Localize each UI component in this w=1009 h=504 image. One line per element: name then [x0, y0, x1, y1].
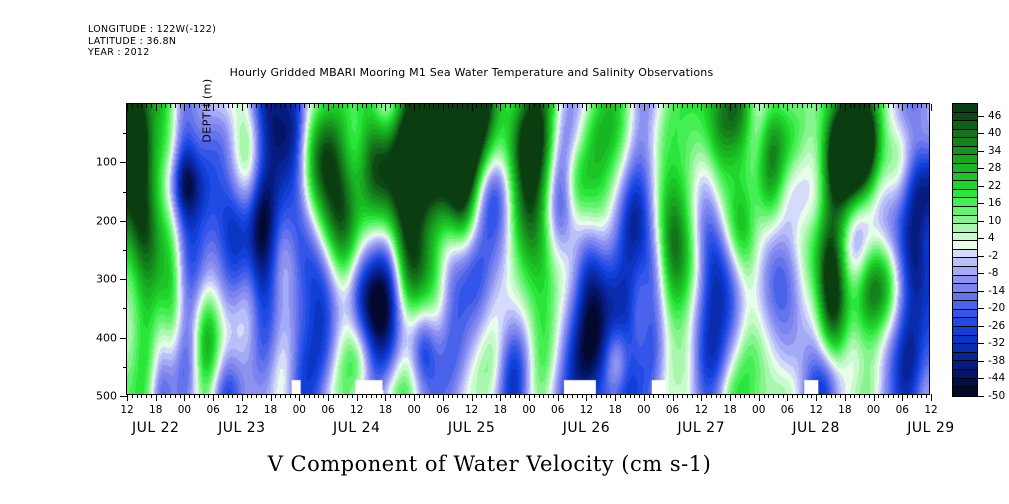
- x-tick-top: [807, 104, 808, 108]
- x-tick-top: [299, 104, 300, 111]
- plot-title-text: Hourly Gridded MBARI Mooring M1 Sea Wate…: [230, 66, 714, 79]
- x-tick-top: [390, 104, 391, 108]
- x-tick-top: [634, 104, 635, 108]
- x-tick: [232, 394, 233, 398]
- x-tick: [893, 394, 894, 398]
- x-tick: [189, 394, 190, 398]
- x-tick-top: [414, 104, 415, 111]
- x-tick-top: [180, 104, 181, 108]
- x-tick-top: [141, 104, 142, 108]
- x-tick: [204, 394, 205, 398]
- x-tick: [223, 394, 224, 398]
- x-hour-label: 00: [407, 404, 420, 416]
- x-tick-top: [921, 104, 922, 108]
- x-tick-top: [213, 104, 214, 111]
- x-tick: [639, 394, 640, 398]
- x-tick-top: [381, 104, 382, 108]
- x-tick: [362, 394, 363, 398]
- x-tick: [194, 394, 195, 398]
- x-tick-top: [720, 104, 721, 108]
- colorbar-label: -26: [988, 320, 1005, 332]
- colorbar-band: [953, 276, 977, 285]
- x-tick-top: [606, 104, 607, 108]
- x-hour-label: 06: [781, 404, 794, 416]
- colorbar-tick: [977, 203, 984, 204]
- x-tick: [563, 394, 564, 398]
- x-tick-top: [443, 104, 444, 111]
- x-tick-top: [208, 104, 209, 108]
- colorbar-label: -44: [988, 372, 1005, 384]
- heatmap-field: [127, 104, 929, 394]
- x-tick-top: [821, 104, 822, 108]
- x-tick-top: [898, 104, 899, 108]
- x-tick: [146, 394, 147, 398]
- x-tick-top: [376, 104, 377, 108]
- x-tick: [826, 394, 827, 398]
- x-tick-top: [261, 104, 262, 108]
- colorbar-band: [953, 121, 977, 130]
- colorbar-band: [953, 284, 977, 293]
- x-hour-label: 00: [752, 404, 765, 416]
- x-tick: [874, 394, 875, 401]
- colorbar-tick: [977, 343, 984, 344]
- x-tick-top: [481, 104, 482, 108]
- x-tick-top: [132, 104, 133, 108]
- x-day-label: JUL 27: [678, 420, 725, 436]
- x-tick: [673, 394, 674, 401]
- x-tick: [582, 394, 583, 398]
- x-tick-top: [783, 104, 784, 108]
- x-tick-top: [553, 104, 554, 108]
- x-tick: [931, 394, 932, 401]
- colorbar-tick: [977, 378, 984, 379]
- x-tick-top: [486, 104, 487, 108]
- x-tick-top: [371, 104, 372, 108]
- x-tick-top: [845, 104, 846, 111]
- colorbar-band: [953, 310, 977, 319]
- colorbar: 464034282216104-2-8-14-20-26-32-38-44-50: [952, 103, 978, 397]
- y-tick-label: 500: [96, 390, 117, 403]
- x-tick: [677, 394, 678, 398]
- y-tick-label: 100: [96, 156, 117, 169]
- x-tick-top: [500, 104, 501, 111]
- colorbar-band: [953, 241, 977, 250]
- x-tick-top: [864, 104, 865, 108]
- colorbar-label: -2: [988, 250, 998, 262]
- x-tick: [476, 394, 477, 398]
- x-tick: [338, 394, 339, 398]
- x-tick-top: [462, 104, 463, 108]
- colorbar-label: -38: [988, 355, 1005, 367]
- x-tick: [443, 394, 444, 401]
- x-tick: [285, 394, 286, 398]
- x-tick-top: [285, 104, 286, 108]
- x-tick-top: [218, 104, 219, 108]
- x-tick: [811, 394, 812, 398]
- x-tick: [357, 394, 358, 401]
- y-tick: [120, 396, 127, 397]
- year-text: YEAR : 2012: [88, 47, 216, 59]
- colorbar-band: [953, 198, 977, 207]
- colorbar-tick: [977, 133, 984, 134]
- x-tick-top: [543, 104, 544, 108]
- x-hour-label: 06: [321, 404, 334, 416]
- page-title: Hourly Gridded MBARI Mooring M1 Sea Wate…: [0, 66, 1009, 79]
- colorbar-band: [953, 258, 977, 267]
- x-hour-label: 18: [494, 404, 507, 416]
- x-tick: [371, 394, 372, 398]
- x-tick-top: [385, 104, 386, 111]
- x-tick-top: [204, 104, 205, 108]
- x-tick: [902, 394, 903, 401]
- x-tick: [697, 394, 698, 398]
- x-tick: [429, 394, 430, 398]
- x-tick: [692, 394, 693, 398]
- x-tick: [261, 394, 262, 398]
- velocity-heatmap-canvas: [127, 104, 929, 394]
- x-tick-top: [878, 104, 879, 108]
- x-tick: [510, 394, 511, 398]
- x-tick-top: [725, 104, 726, 108]
- x-tick-top: [352, 104, 353, 108]
- x-tick-top: [759, 104, 760, 111]
- x-tick: [491, 394, 492, 398]
- x-hour-label: 12: [235, 404, 248, 416]
- x-tick: [156, 394, 157, 401]
- x-tick: [433, 394, 434, 398]
- x-tick: [840, 394, 841, 398]
- x-tick: [151, 394, 152, 398]
- colorbar-band: [953, 318, 977, 327]
- y-tick: [123, 308, 127, 309]
- x-tick: [141, 394, 142, 398]
- x-tick: [701, 394, 702, 401]
- x-tick: [797, 394, 798, 398]
- x-tick-top: [271, 104, 272, 111]
- x-tick-top: [228, 104, 229, 108]
- x-tick: [912, 394, 913, 398]
- x-tick-top: [405, 104, 406, 108]
- y-tick: [123, 367, 127, 368]
- x-tick: [505, 394, 506, 398]
- x-tick: [845, 394, 846, 401]
- x-tick: [347, 394, 348, 398]
- x-tick-top: [931, 104, 932, 111]
- x-tick: [586, 394, 587, 401]
- colorbar-band: [953, 233, 977, 242]
- x-tick-top: [630, 104, 631, 108]
- x-tick-top: [835, 104, 836, 108]
- x-tick: [529, 394, 530, 401]
- x-tick: [175, 394, 176, 398]
- x-tick-top: [792, 104, 793, 108]
- x-tick: [917, 394, 918, 398]
- x-tick-top: [706, 104, 707, 108]
- plot-area: DEPTH (m) 100200300400500 12180006121800…: [126, 103, 930, 395]
- x-tick: [481, 394, 482, 398]
- colorbar-tick: [977, 291, 984, 292]
- x-tick: [165, 394, 166, 398]
- x-tick: [921, 394, 922, 398]
- x-tick-top: [448, 104, 449, 108]
- x-tick-top: [888, 104, 889, 108]
- x-tick-top: [802, 104, 803, 108]
- x-tick-top: [223, 104, 224, 108]
- x-tick-top: [730, 104, 731, 111]
- x-tick-top: [318, 104, 319, 108]
- x-tick-top: [539, 104, 540, 108]
- x-tick: [577, 394, 578, 398]
- x-tick-top: [199, 104, 200, 108]
- x-tick: [314, 394, 315, 398]
- x-tick: [275, 394, 276, 398]
- x-tick-top: [290, 104, 291, 108]
- x-tick-top: [314, 104, 315, 108]
- x-tick: [534, 394, 535, 398]
- colorbar-band: [953, 361, 977, 370]
- x-tick: [888, 394, 889, 398]
- x-tick: [318, 394, 319, 398]
- x-tick-top: [711, 104, 712, 108]
- x-tick: [472, 394, 473, 401]
- x-hour-label: 12: [580, 404, 593, 416]
- x-tick-top: [280, 104, 281, 108]
- x-tick: [228, 394, 229, 398]
- x-tick: [730, 394, 731, 401]
- x-tick: [567, 394, 568, 398]
- x-hour-label: 00: [867, 404, 880, 416]
- x-tick-top: [610, 104, 611, 108]
- x-tick: [419, 394, 420, 398]
- x-tick: [199, 394, 200, 398]
- x-hour-label: 06: [551, 404, 564, 416]
- x-day-label: JUL 28: [792, 420, 839, 436]
- y-tick: [120, 279, 127, 280]
- colorbar-band: [953, 301, 977, 310]
- colorbar-band: [953, 370, 977, 379]
- x-tick-top: [409, 104, 410, 108]
- x-hour-label: 00: [522, 404, 535, 416]
- x-tick-top: [586, 104, 587, 111]
- x-tick: [606, 394, 607, 398]
- x-day-label: JUL 29: [907, 420, 954, 436]
- x-tick: [610, 394, 611, 398]
- colorbar-tick: [977, 361, 984, 362]
- x-tick-top: [558, 104, 559, 111]
- colorbar-label: -8: [988, 267, 998, 279]
- x-hour-label: 12: [924, 404, 937, 416]
- x-hour-label: 12: [465, 404, 478, 416]
- x-tick-top: [874, 104, 875, 111]
- x-hour-label: 18: [379, 404, 392, 416]
- colorbar-band: [953, 190, 977, 199]
- colorbar-tick: [977, 308, 984, 309]
- y-tick: [120, 338, 127, 339]
- x-tick: [926, 394, 927, 398]
- figure-caption: V Component of Water Velocity (cm s-1): [0, 452, 1009, 476]
- x-tick: [649, 394, 650, 398]
- x-tick: [869, 394, 870, 398]
- x-tick: [735, 394, 736, 398]
- colorbar-band: [953, 207, 977, 216]
- x-tick-top: [902, 104, 903, 111]
- x-tick-top: [907, 104, 908, 108]
- colorbar-band: [953, 387, 977, 396]
- station-metadata: LONGITUDE : 122W(-122) LATITUDE : 36.8N …: [88, 24, 216, 59]
- x-tick-top: [649, 104, 650, 108]
- x-tick-top: [625, 104, 626, 108]
- colorbar-tick: [977, 116, 984, 117]
- x-tick-top: [601, 104, 602, 108]
- x-tick: [271, 394, 272, 401]
- x-tick-top: [577, 104, 578, 108]
- x-tick: [342, 394, 343, 398]
- x-tick: [601, 394, 602, 398]
- x-tick: [395, 394, 396, 398]
- x-tick-top: [266, 104, 267, 108]
- x-tick-top: [797, 104, 798, 108]
- x-tick: [496, 394, 497, 398]
- colorbar-band: [953, 293, 977, 302]
- x-tick: [381, 394, 382, 398]
- x-tick-top: [519, 104, 520, 108]
- x-tick-top: [247, 104, 248, 108]
- colorbar-tick: [977, 256, 984, 257]
- x-tick-top: [524, 104, 525, 108]
- colorbar-label: -20: [988, 302, 1005, 314]
- x-tick-top: [429, 104, 430, 108]
- x-tick-top: [740, 104, 741, 108]
- colorbar-tick: [977, 326, 984, 327]
- x-tick: [850, 394, 851, 398]
- colorbar-label: 4: [988, 232, 995, 244]
- x-tick: [835, 394, 836, 398]
- x-hour-label: 12: [120, 404, 133, 416]
- x-tick: [807, 394, 808, 398]
- x-tick-top: [237, 104, 238, 108]
- colorbar-band: [953, 336, 977, 345]
- x-tick: [352, 394, 353, 398]
- x-tick: [634, 394, 635, 398]
- x-day-label: JUL 26: [563, 420, 610, 436]
- colorbar-band: [953, 379, 977, 388]
- x-tick: [161, 394, 162, 398]
- x-tick: [543, 394, 544, 398]
- y-tick-label: 400: [96, 331, 117, 344]
- colorbar-band: [953, 104, 977, 113]
- x-day-label: JUL 25: [448, 420, 495, 436]
- x-tick: [821, 394, 822, 398]
- x-tick: [328, 394, 329, 401]
- x-tick-top: [515, 104, 516, 108]
- x-tick: [237, 394, 238, 398]
- x-tick: [295, 394, 296, 398]
- x-tick-top: [338, 104, 339, 108]
- colorbar-band: [953, 164, 977, 173]
- x-tick-top: [658, 104, 659, 108]
- x-tick: [754, 394, 755, 398]
- x-hour-label: 06: [666, 404, 679, 416]
- x-tick-top: [816, 104, 817, 111]
- colorbar-band: [953, 173, 977, 182]
- longitude-text: LONGITUDE : 122W(-122): [88, 24, 216, 36]
- colorbar-tick: [977, 396, 984, 397]
- x-tick-top: [701, 104, 702, 111]
- x-tick-top: [357, 104, 358, 111]
- x-hour-label: 18: [723, 404, 736, 416]
- x-tick-top: [673, 104, 674, 111]
- x-tick-top: [534, 104, 535, 108]
- x-tick: [725, 394, 726, 398]
- x-tick: [333, 394, 334, 398]
- x-tick-top: [457, 104, 458, 108]
- x-tick: [266, 394, 267, 398]
- x-tick: [385, 394, 386, 401]
- x-tick-top: [137, 104, 138, 108]
- x-tick: [907, 394, 908, 398]
- x-tick-top: [496, 104, 497, 108]
- x-tick-top: [787, 104, 788, 111]
- x-tick: [749, 394, 750, 398]
- x-tick-top: [682, 104, 683, 108]
- x-tick-top: [596, 104, 597, 108]
- x-day-label: JUL 23: [218, 420, 265, 436]
- colorbar-label: 34: [988, 145, 1001, 157]
- x-tick-top: [362, 104, 363, 108]
- x-tick: [630, 394, 631, 398]
- x-tick-top: [620, 104, 621, 108]
- x-tick: [644, 394, 645, 401]
- x-tick: [247, 394, 248, 398]
- x-tick-top: [768, 104, 769, 108]
- x-tick-top: [926, 104, 927, 108]
- x-hour-label: 18: [149, 404, 162, 416]
- x-hour-label: 12: [695, 404, 708, 416]
- x-tick-top: [347, 104, 348, 108]
- x-tick: [711, 394, 712, 398]
- x-tick-top: [165, 104, 166, 108]
- x-tick-top: [438, 104, 439, 108]
- x-tick-top: [677, 104, 678, 108]
- x-hour-label: 18: [608, 404, 621, 416]
- x-hour-label: 06: [436, 404, 449, 416]
- colorbar-band: [953, 130, 977, 139]
- x-tick-top: [472, 104, 473, 111]
- x-tick-top: [467, 104, 468, 108]
- x-tick-top: [572, 104, 573, 108]
- x-tick: [280, 394, 281, 398]
- x-tick-top: [304, 104, 305, 108]
- x-tick-top: [510, 104, 511, 108]
- y-tick-label: 200: [96, 214, 117, 227]
- x-tick: [405, 394, 406, 398]
- x-tick-top: [567, 104, 568, 108]
- x-hour-label: 06: [206, 404, 219, 416]
- x-tick-top: [328, 104, 329, 111]
- x-tick-top: [744, 104, 745, 108]
- colorbar-label: -32: [988, 337, 1005, 349]
- y-axis-label: DEPTH (m): [201, 31, 214, 191]
- x-hour-label: 00: [637, 404, 650, 416]
- x-tick-top: [639, 104, 640, 108]
- x-tick-top: [773, 104, 774, 108]
- x-tick-top: [151, 104, 152, 108]
- x-tick-top: [764, 104, 765, 108]
- x-tick: [764, 394, 765, 398]
- x-tick-top: [749, 104, 750, 108]
- x-tick: [132, 394, 133, 398]
- x-hour-label: 12: [809, 404, 822, 416]
